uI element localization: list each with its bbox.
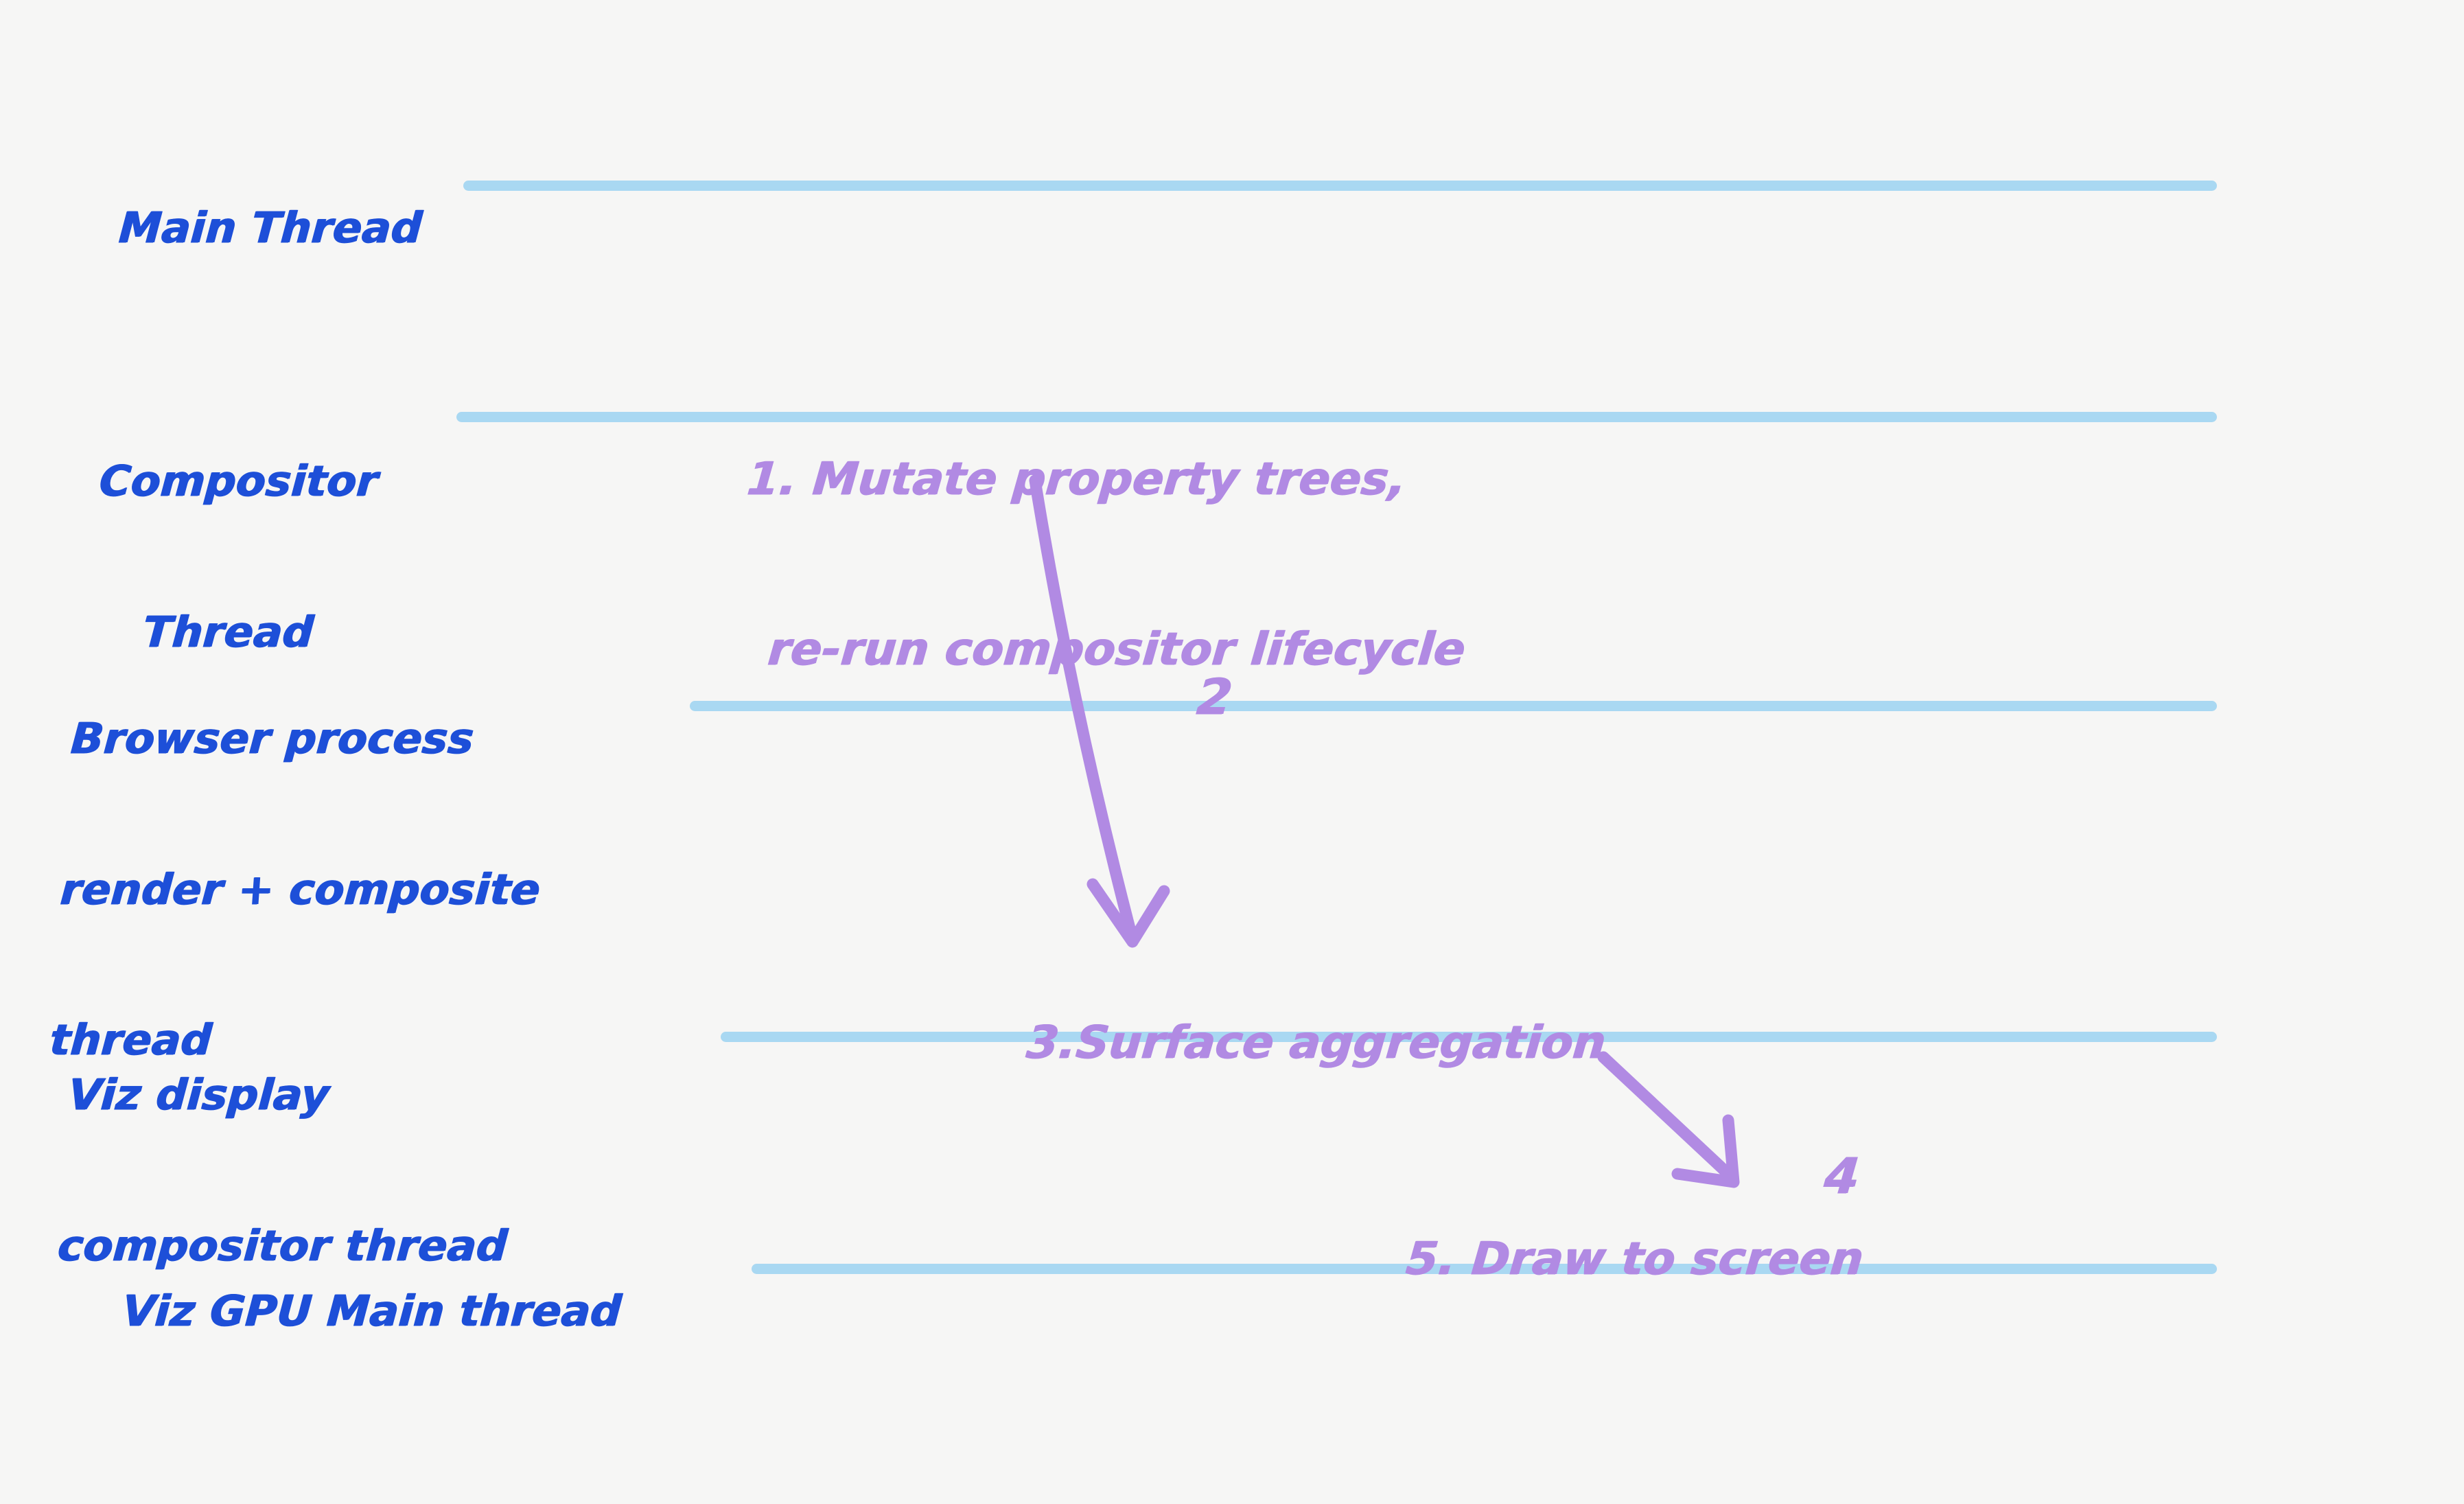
- lane-line-main-thread: [463, 181, 2217, 191]
- annotation-step-2-number: 2: [1119, 604, 1240, 789]
- annotation-step-1: 1. Mutate property trees, re-run composi…: [720, 338, 1492, 791]
- annotation-line: re-run compositor lifecycle: [766, 621, 1467, 678]
- annotation-line: 1. Mutate property trees,: [745, 451, 1482, 508]
- thread-label-line: Viz GPU Main thread: [121, 1286, 623, 1336]
- arrow-step-4-icon: [1603, 1057, 1734, 1182]
- thread-label-viz-gpu-main-thread: Viz GPU Main thread: [56, 1236, 626, 1386]
- thread-label-line: Main Thread: [117, 203, 423, 253]
- diagram-canvas: Main Thread Compositor Thread Browser pr…: [0, 0, 2464, 1504]
- thread-label-line: Viz display: [67, 1069, 520, 1120]
- step-number-text: 2: [1195, 668, 1235, 726]
- thread-label-line: Compositor: [58, 456, 419, 506]
- thread-label-line: render + composite: [58, 864, 542, 914]
- annotation-step-5: 5. Draw to screen: [1334, 1174, 1870, 1344]
- annotation-step-3: 3.Surface aggregation: [955, 958, 1613, 1128]
- annotation-line: 5. Draw to screen: [1404, 1232, 1866, 1285]
- annotation-line: 3.Surface aggregation: [1025, 1016, 1608, 1069]
- thread-label-main-thread: Main Thread: [53, 152, 427, 303]
- thread-label-line: Browser process: [69, 713, 553, 763]
